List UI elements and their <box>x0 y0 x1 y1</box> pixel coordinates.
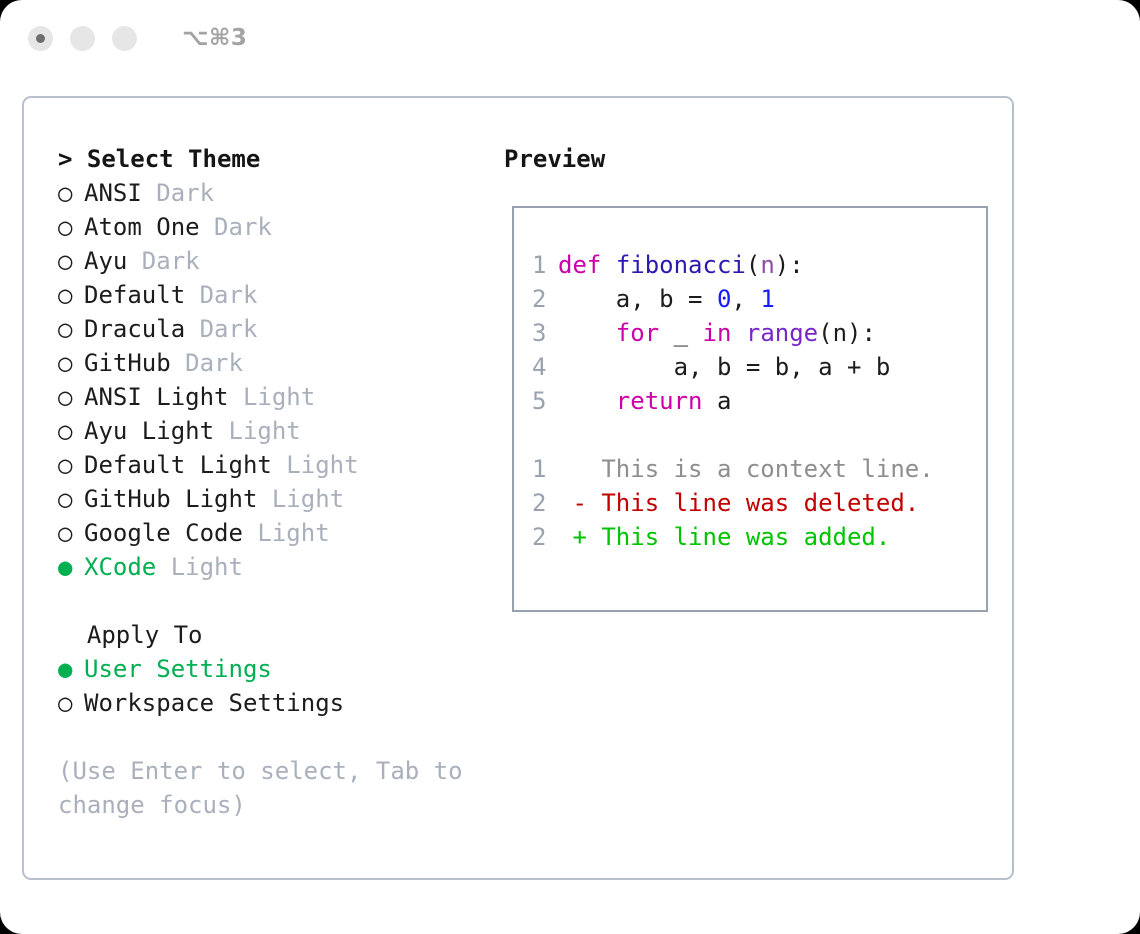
diff-line-text: - This line was deleted. <box>558 489 919 517</box>
theme-option-ayu-light[interactable]: ○Ayu Light Light <box>58 414 492 448</box>
theme-option-list: ○ANSI Dark○Atom One Dark○Ayu Dark○Defaul… <box>58 176 492 584</box>
theme-option-label: Default Light <box>84 451 272 479</box>
theme-option-variant: Dark <box>142 179 214 207</box>
theme-option-label: Dracula <box>84 315 185 343</box>
app-window: ⌥⌘3 > Select Theme ○ANSI Dark○Atom One D… <box>0 0 1140 934</box>
theme-option-label: ANSI <box>84 179 142 207</box>
window-dot-maximize[interactable] <box>112 26 137 51</box>
apply-to-option-label: User Settings <box>84 655 272 683</box>
theme-option-default[interactable]: ○Default Dark <box>58 278 492 312</box>
code-sample: 1def fibonacci(n):2 a, b = 0, 13 for _ i… <box>532 248 986 418</box>
theme-option-ansi[interactable]: ○ANSI Dark <box>58 176 492 210</box>
code-token: (n): <box>818 319 876 347</box>
theme-picker-column: > Select Theme ○ANSI Dark○Atom One Dark○… <box>40 142 492 878</box>
radio-unselected-icon: ○ <box>58 210 84 244</box>
theme-option-variant: Dark <box>200 213 272 241</box>
code-token: a, b = b, a + b <box>558 353 890 381</box>
radio-unselected-icon: ○ <box>58 380 84 414</box>
theme-option-label: Default <box>84 281 185 309</box>
line-number: 2 <box>532 520 558 554</box>
code-token: in <box>703 319 732 347</box>
main-panel: > Select Theme ○ANSI Dark○Atom One Dark○… <box>22 96 1014 880</box>
theme-option-label: Ayu Light <box>84 417 214 445</box>
window-dot-active-indicator <box>36 34 45 43</box>
diff-line: 1 This is a context line. <box>532 452 986 486</box>
apply-to-header: Apply To <box>58 618 492 652</box>
preview-column: Preview 1def fibonacci(n):2 a, b = 0, 13… <box>492 142 1012 878</box>
theme-option-variant: Light <box>243 519 330 547</box>
theme-option-label: ANSI Light <box>84 383 229 411</box>
code-token: , <box>731 285 760 313</box>
diff-line-text: This is a context line. <box>558 455 934 483</box>
line-number: 2 <box>532 486 558 520</box>
radio-unselected-icon: ○ <box>58 346 84 380</box>
code-token: _ <box>659 319 702 347</box>
keyboard-hint-text: (Use Enter to select, Tab to change focu… <box>58 754 478 822</box>
code-token: range <box>746 319 818 347</box>
hint-spacer <box>58 720 492 754</box>
theme-option-google-code[interactable]: ○Google Code Light <box>58 516 492 550</box>
code-token: fibonacci <box>616 251 746 279</box>
window-controls <box>28 26 137 51</box>
theme-option-variant: Light <box>257 485 344 513</box>
code-token <box>558 387 616 415</box>
apply-to-option-label: Workspace Settings <box>84 689 344 717</box>
code-token: 0 <box>717 285 731 313</box>
theme-option-ayu[interactable]: ○Ayu Dark <box>58 244 492 278</box>
radio-unselected-icon: ○ <box>58 414 84 448</box>
code-token: for <box>616 319 659 347</box>
theme-option-xcode[interactable]: ●XCode Light <box>58 550 492 584</box>
radio-unselected-icon: ○ <box>58 278 84 312</box>
code-line: 1def fibonacci(n): <box>532 248 986 282</box>
apply-to-option-list: ●User Settings○Workspace Settings <box>58 652 492 720</box>
radio-unselected-icon: ○ <box>58 176 84 210</box>
code-token <box>601 251 615 279</box>
theme-option-label: Atom One <box>84 213 200 241</box>
theme-option-variant: Light <box>272 451 359 479</box>
theme-option-label: GitHub Light <box>84 485 257 513</box>
radio-selected-icon: ● <box>58 652 84 686</box>
theme-option-variant: Light <box>229 383 316 411</box>
code-token: return <box>616 387 703 415</box>
theme-option-ansi-light[interactable]: ○ANSI Light Light <box>58 380 492 414</box>
theme-option-variant: Light <box>214 417 301 445</box>
line-number: 2 <box>532 282 558 316</box>
code-token: def <box>558 251 601 279</box>
line-number: 3 <box>532 316 558 350</box>
code-token: n <box>760 251 774 279</box>
list-spacer <box>58 584 492 618</box>
diff-sample: 1 This is a context line.2 - This line w… <box>532 452 986 554</box>
line-number: 4 <box>532 350 558 384</box>
line-number: 1 <box>532 248 558 282</box>
line-number: 1 <box>532 452 558 486</box>
diff-line: 2 + This line was added. <box>532 520 986 554</box>
code-token: a <box>703 387 732 415</box>
radio-unselected-icon: ○ <box>58 448 84 482</box>
code-token: ( <box>746 251 760 279</box>
theme-option-dracula[interactable]: ○Dracula Dark <box>58 312 492 346</box>
theme-option-variant: Dark <box>127 247 199 275</box>
diff-line-text: + This line was added. <box>558 523 890 551</box>
preview-box: 1def fibonacci(n):2 a, b = 0, 13 for _ i… <box>512 206 988 612</box>
radio-unselected-icon: ○ <box>58 244 84 278</box>
code-token: 1 <box>760 285 774 313</box>
theme-option-variant: Dark <box>185 315 257 343</box>
radio-selected-icon: ● <box>58 550 84 584</box>
theme-option-variant: Light <box>156 553 243 581</box>
code-token <box>558 319 616 347</box>
code-token: a, b = <box>558 285 717 313</box>
radio-unselected-icon: ○ <box>58 686 84 720</box>
code-line: 4 a, b = b, a + b <box>532 350 986 384</box>
code-line: 3 for _ in range(n): <box>532 316 986 350</box>
keyboard-shortcut-label: ⌥⌘3 <box>182 25 247 51</box>
theme-option-label: GitHub <box>84 349 171 377</box>
radio-unselected-icon: ○ <box>58 482 84 516</box>
code-token <box>731 319 745 347</box>
diff-line: 2 - This line was deleted. <box>532 486 986 520</box>
code-token: ): <box>775 251 804 279</box>
window-dot-close[interactable] <box>28 26 53 51</box>
title-bar: ⌥⌘3 <box>0 0 1140 76</box>
radio-unselected-icon: ○ <box>58 312 84 346</box>
theme-option-label: Ayu <box>84 247 127 275</box>
select-theme-header: > Select Theme <box>58 142 492 176</box>
theme-option-variant: Dark <box>171 349 243 377</box>
apply-to-option-workspace-settings[interactable]: ○Workspace Settings <box>58 686 492 720</box>
theme-option-default-light[interactable]: ○Default Light Light <box>58 448 492 482</box>
radio-unselected-icon: ○ <box>58 516 84 550</box>
code-line: 5 return a <box>532 384 986 418</box>
window-dot-minimize[interactable] <box>70 26 95 51</box>
code-line: 2 a, b = 0, 1 <box>532 282 986 316</box>
line-number: 5 <box>532 384 558 418</box>
preview-title: Preview <box>504 142 1012 176</box>
theme-option-label: Google Code <box>84 519 243 547</box>
theme-option-atom-one[interactable]: ○Atom One Dark <box>58 210 492 244</box>
code-diff-separator <box>532 418 986 452</box>
theme-option-github[interactable]: ○GitHub Dark <box>58 346 492 380</box>
theme-option-label: XCode <box>84 553 156 581</box>
theme-option-variant: Dark <box>185 281 257 309</box>
theme-option-github-light[interactable]: ○GitHub Light Light <box>58 482 492 516</box>
apply-to-option-user-settings[interactable]: ●User Settings <box>58 652 492 686</box>
